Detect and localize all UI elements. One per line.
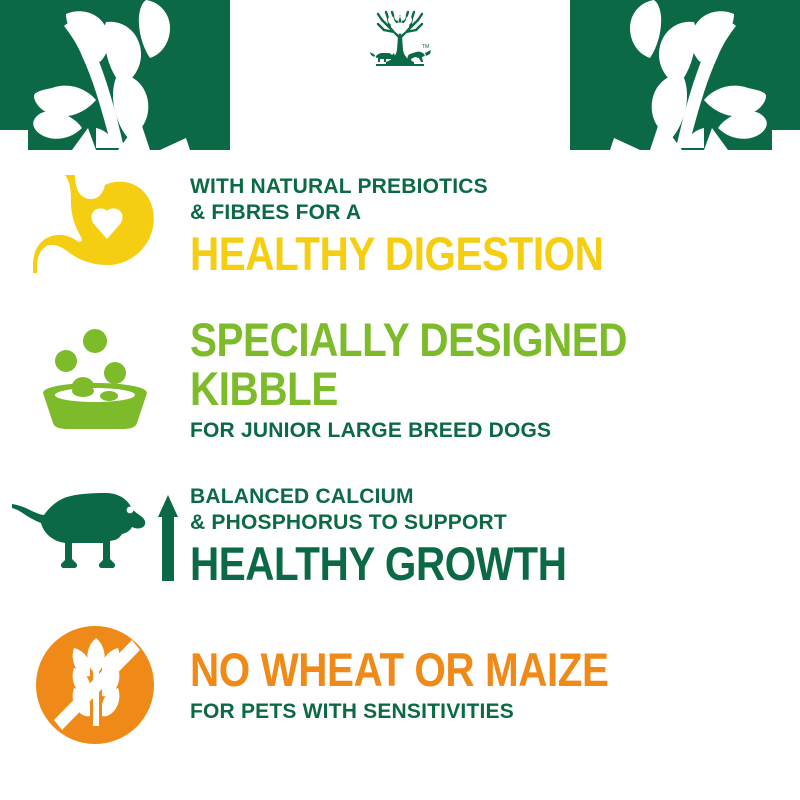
benefit-text-kibble: SPECIALLY DESIGNED KIBBLE FOR JUNIOR LAR… bbox=[190, 316, 800, 444]
benefit-line: BALANCED CALCIUM bbox=[190, 484, 784, 510]
benefit-headline: HEALTHY GROWTH bbox=[190, 540, 701, 587]
benefit-row-kibble: SPECIALLY DESIGNED KIBBLE FOR JUNIOR LAR… bbox=[0, 300, 800, 460]
no-wheat-icon bbox=[0, 626, 190, 744]
benefit-headline: HEALTHY DIGESTION bbox=[190, 230, 701, 277]
benefit-row-digestion: WITH NATURAL PREBIOTICS & FIBRES FOR A H… bbox=[0, 150, 800, 300]
benefit-text-growth: BALANCED CALCIUM & PHOSPHORUS TO SUPPORT… bbox=[190, 484, 800, 587]
leaf-branch-corner-right-icon bbox=[570, 0, 800, 150]
benefit-row-growth: BALANCED CALCIUM & PHOSPHORUS TO SUPPORT… bbox=[0, 460, 800, 610]
infographic-page: TM WITH NATURAL PREBIOTICS & FIBRES FOR … bbox=[0, 0, 800, 800]
stomach-heart-icon bbox=[0, 169, 190, 281]
benefit-line: & PHOSPHORUS TO SUPPORT bbox=[190, 510, 784, 536]
benefit-line: FOR PETS WITH SENSITIVITIES bbox=[190, 699, 784, 725]
benefit-headline: NO WHEAT OR MAIZE bbox=[190, 646, 701, 693]
dog-bowl-kibble-icon bbox=[0, 327, 190, 433]
puppy-growth-arrow-icon bbox=[0, 485, 190, 585]
benefit-line: WITH NATURAL PREBIOTICS bbox=[190, 174, 784, 200]
trademark-mark: TM bbox=[422, 44, 429, 50]
benefits-list: WITH NATURAL PREBIOTICS & FIBRES FOR A H… bbox=[0, 150, 800, 760]
benefit-line: FOR JUNIOR LARGE BREED DOGS bbox=[190, 418, 784, 444]
leaf-branch-corner-left-icon bbox=[0, 0, 230, 150]
benefit-text-digestion: WITH NATURAL PREBIOTICS & FIBRES FOR A H… bbox=[190, 174, 800, 277]
benefit-text-no-wheat: NO WHEAT OR MAIZE FOR PETS WITH SENSITIV… bbox=[190, 646, 800, 725]
benefit-line: & FIBRES FOR A bbox=[190, 200, 784, 226]
benefit-row-no-wheat: NO WHEAT OR MAIZE FOR PETS WITH SENSITIV… bbox=[0, 610, 800, 760]
benefit-headline: SPECIALLY DESIGNED bbox=[190, 316, 701, 363]
benefit-headline: KIBBLE bbox=[190, 365, 701, 412]
brand-logo-tree-icon: TM bbox=[364, 6, 436, 72]
